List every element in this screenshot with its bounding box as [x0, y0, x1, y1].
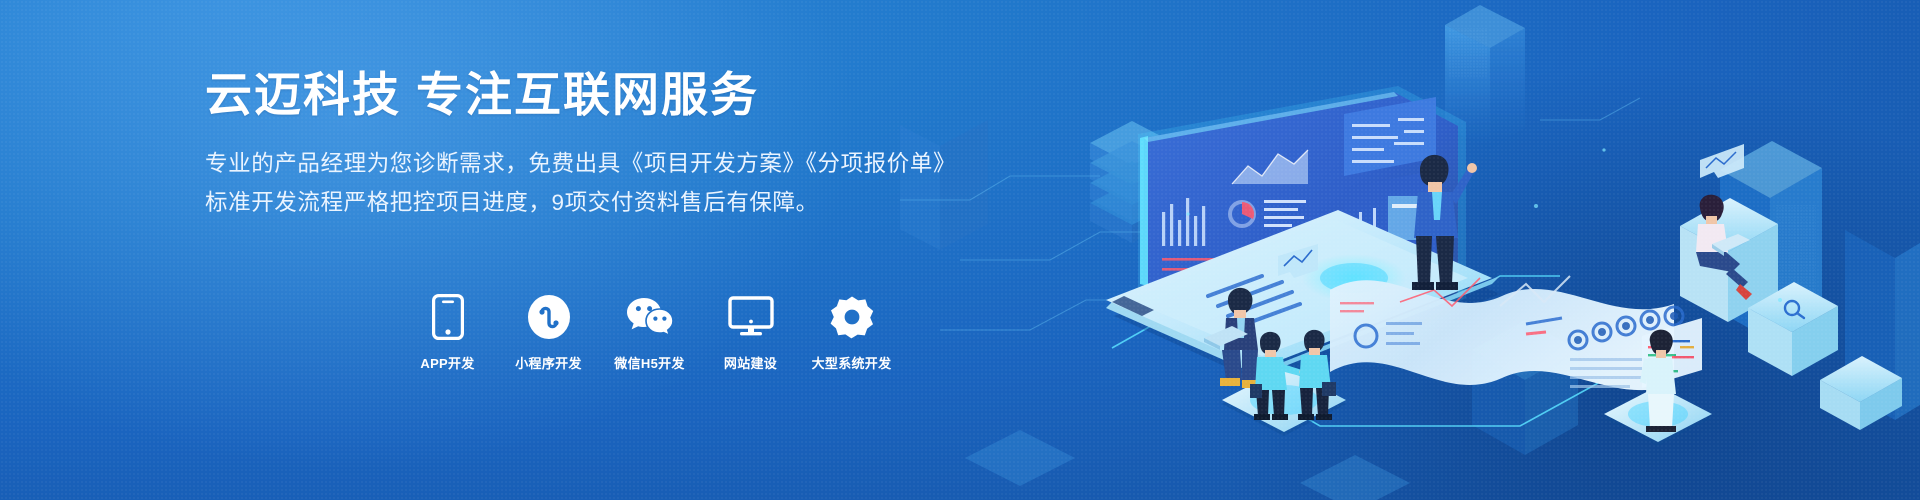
service-label-wechat-h5: 微信H5开发	[614, 353, 684, 372]
service-item-website[interactable]: 网站建设	[713, 293, 788, 372]
monitor-icon	[727, 293, 775, 341]
service-icon-list: APP开发 小程序开发	[410, 293, 889, 372]
isometric-tech-illustration	[900, 0, 1920, 500]
mini-program-icon	[525, 293, 573, 341]
service-item-app[interactable]: APP开发	[410, 293, 485, 372]
service-label-website: 网站建设	[724, 353, 777, 372]
hero-subtitle: 专业的产品经理为您诊断需求，免费出具《项目开发方案》《分项报价单》 标准开发流程…	[205, 145, 925, 222]
background-glow-bottom-right	[1180, 40, 1920, 500]
service-label-large-system: 大型系统开发	[812, 353, 892, 372]
service-item-large-system[interactable]: 大型系统开发	[814, 293, 889, 372]
wechat-icon	[626, 293, 674, 341]
hero-copy: 云迈科技 专注互联网服务 专业的产品经理为您诊断需求，免费出具《项目开发方案》《…	[205, 66, 925, 223]
service-item-wechat-h5[interactable]: 微信H5开发	[612, 293, 687, 372]
hero-subtitle-line-2: 标准开发流程严格把控项目进度，9项交付资料售后有保障。	[205, 184, 925, 223]
gear-icon	[828, 293, 876, 341]
service-label-app: APP开发	[420, 353, 474, 372]
mobile-phone-icon	[424, 293, 472, 341]
hero-banner: 云迈科技 专注互联网服务 专业的产品经理为您诊断需求，免费出具《项目开发方案》《…	[0, 0, 1920, 500]
hero-subtitle-line-1: 专业的产品经理为您诊断需求，免费出具《项目开发方案》《分项报价单》	[205, 151, 956, 176]
service-label-mini-program: 小程序开发	[515, 353, 582, 372]
service-item-mini-program[interactable]: 小程序开发	[511, 293, 586, 372]
page-title: 云迈科技 专注互联网服务	[205, 66, 925, 123]
